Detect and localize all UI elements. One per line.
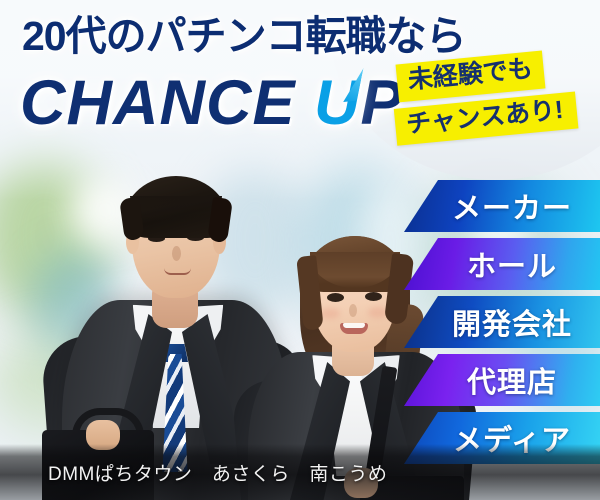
page-title: 20代のパチンコ転職なら (22, 16, 466, 57)
logo-chance-text: CHANCE (20, 68, 296, 138)
category-button-maker[interactable]: メーカー (404, 180, 600, 232)
category-label: メーカー (432, 185, 572, 227)
chance-up-logo: CHANCE UP (20, 72, 404, 135)
category-button-hall[interactable]: ホール (404, 238, 600, 290)
category-label: 代理店 (447, 359, 557, 401)
woman-teeth (343, 323, 365, 328)
man-mouth (164, 268, 191, 275)
category-button-developer[interactable]: 開発会社 (404, 296, 600, 348)
category-label: ホール (447, 243, 557, 285)
caption-text: DMMぱちタウン あさくら 南こうめ (0, 459, 387, 486)
status-badge: 未経験でも チャンスあり! (396, 48, 579, 145)
promo-banner: 20代のパチンコ転職なら CHANCE UP 未経験でも チャンスあり! メーカ… (0, 0, 600, 500)
woman-eye-right (365, 292, 382, 301)
man-nose (172, 246, 181, 261)
caption-bar: DMMぱちタウン あさくら 南こうめ (0, 444, 600, 500)
category-label: 開発会社 (432, 301, 572, 343)
woman-cheek-left (320, 308, 340, 319)
category-button-agency[interactable]: 代理店 (404, 354, 600, 406)
woman-nose (349, 304, 357, 317)
woman-eye-left (327, 293, 344, 302)
category-list: メーカー ホール 開発会社 代理店 メディア (404, 180, 600, 470)
logo-u-letter: U (314, 72, 361, 135)
